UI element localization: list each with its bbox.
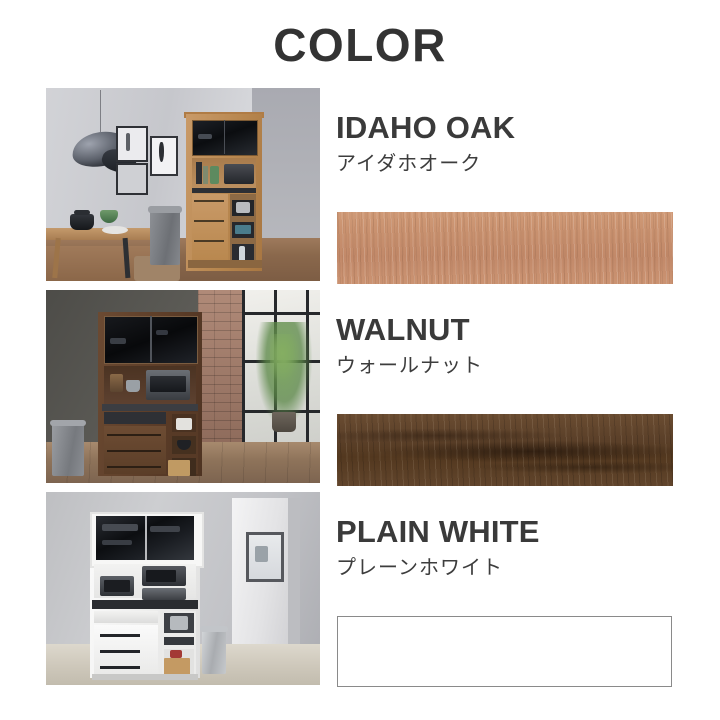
- microwave-door: [146, 570, 176, 582]
- cabinet-base: [188, 260, 262, 268]
- color-name-en: IDAHO OAK: [336, 112, 515, 143]
- cabinet-base: [92, 674, 198, 680]
- plant-foliage: [270, 334, 300, 382]
- cabinet-counter: [92, 600, 198, 609]
- glass-reflection-3: [102, 540, 132, 545]
- slide-shelf: [104, 412, 166, 424]
- cabinet-counter: [192, 188, 256, 193]
- trash-bin: [52, 424, 84, 476]
- red-item: [170, 650, 182, 658]
- shelf-book-2: [203, 166, 208, 184]
- wall-frame-1: [116, 126, 148, 162]
- drawer-line-2: [194, 220, 224, 222]
- slide-shelf: [94, 611, 158, 623]
- shelf-pan: [236, 202, 250, 213]
- color-row-plain-white: PLAIN WHITE プレーンホワイト: [0, 492, 720, 690]
- shelf-book: [196, 162, 202, 184]
- shelf-pan: [170, 616, 188, 630]
- pendant-cord: [100, 90, 101, 132]
- microwave: [224, 164, 254, 184]
- trash-can-lid: [200, 626, 228, 632]
- kettle: [126, 380, 140, 392]
- drawer-handle-3: [100, 666, 140, 669]
- product-photo-walnut[interactable]: [46, 290, 320, 483]
- product-photo-idaho-oak[interactable]: [46, 88, 320, 281]
- drawer-handle-2: [100, 650, 140, 653]
- glass-reflection-1: [102, 524, 138, 531]
- color-name-jp: アイダホオーク: [336, 153, 515, 173]
- color-label-walnut: WALNUT ウォールナット: [336, 314, 483, 375]
- color-name-jp: プレーンホワイト: [336, 557, 540, 577]
- cabinet-glass-divider: [150, 316, 152, 362]
- wooden-crate: [168, 460, 190, 476]
- wall-frame-3-art: [159, 142, 164, 162]
- cabinet-drawers: [192, 194, 228, 260]
- cabinet-glass-divider: [224, 120, 225, 154]
- page-title: COLOR: [0, 22, 720, 68]
- cabinet-counter: [102, 404, 198, 411]
- color-swatch-idaho-oak[interactable]: [337, 212, 673, 284]
- rice-cooker: [142, 588, 186, 600]
- toaster-oven-door: [150, 376, 186, 392]
- color-name-en: PLAIN WHITE: [336, 516, 540, 547]
- trash-can: [202, 630, 226, 674]
- wall-frame-2: [116, 163, 148, 195]
- side-shelf-2: [164, 637, 194, 645]
- plate: [102, 226, 128, 234]
- color-swatch-plain-white[interactable]: [337, 616, 672, 687]
- glass-reflection-2: [150, 526, 180, 532]
- color-name-en: WALNUT: [336, 314, 483, 345]
- drawer-line-3: [194, 240, 224, 242]
- window-mullion-v1: [242, 290, 245, 452]
- brick-wall: [198, 290, 246, 448]
- shelf-plant: [210, 166, 219, 184]
- pot-lid: [74, 210, 90, 215]
- product-photo-plain-white[interactable]: [46, 492, 320, 685]
- trash-bin: [150, 210, 180, 265]
- white-pot: [176, 418, 192, 430]
- drawer-line-2: [107, 450, 161, 452]
- color-swatch-walnut[interactable]: [337, 414, 673, 486]
- drawer-handle-1: [100, 634, 140, 637]
- toaster-door: [104, 580, 130, 592]
- wall-frame-1-art: [126, 133, 130, 151]
- drawer-line-3: [107, 466, 161, 468]
- dining-table: [46, 228, 152, 240]
- coffee-jar: [110, 374, 123, 392]
- shelf-box: [235, 225, 251, 234]
- cooking-pot: [70, 214, 94, 230]
- drawer-line-1: [194, 200, 224, 202]
- trash-bin-lid: [148, 206, 182, 213]
- glass-reflection: [198, 134, 212, 139]
- color-label-idaho-oak: IDAHO OAK アイダホオーク: [336, 112, 515, 173]
- glass-reflection-2: [156, 330, 168, 335]
- trash-bin-lid: [50, 420, 86, 426]
- drawer-line-1: [107, 434, 161, 436]
- color-variation-page: COLOR: [0, 0, 720, 720]
- color-label-plain-white: PLAIN WHITE プレーンホワイト: [336, 516, 540, 577]
- framed-picture-art: [255, 546, 268, 562]
- glass-reflection-1: [110, 338, 126, 344]
- partition-wall-side: [288, 498, 300, 650]
- plant-pot: [272, 412, 296, 432]
- color-row-walnut: WALNUT ウォールナット: [0, 290, 720, 488]
- wall-frame-3: [150, 136, 178, 176]
- cabinet-glass-divider: [145, 516, 147, 560]
- color-row-idaho-oak: IDAHO OAK アイダホオーク: [0, 88, 720, 286]
- color-name-jp: ウォールナット: [336, 355, 483, 375]
